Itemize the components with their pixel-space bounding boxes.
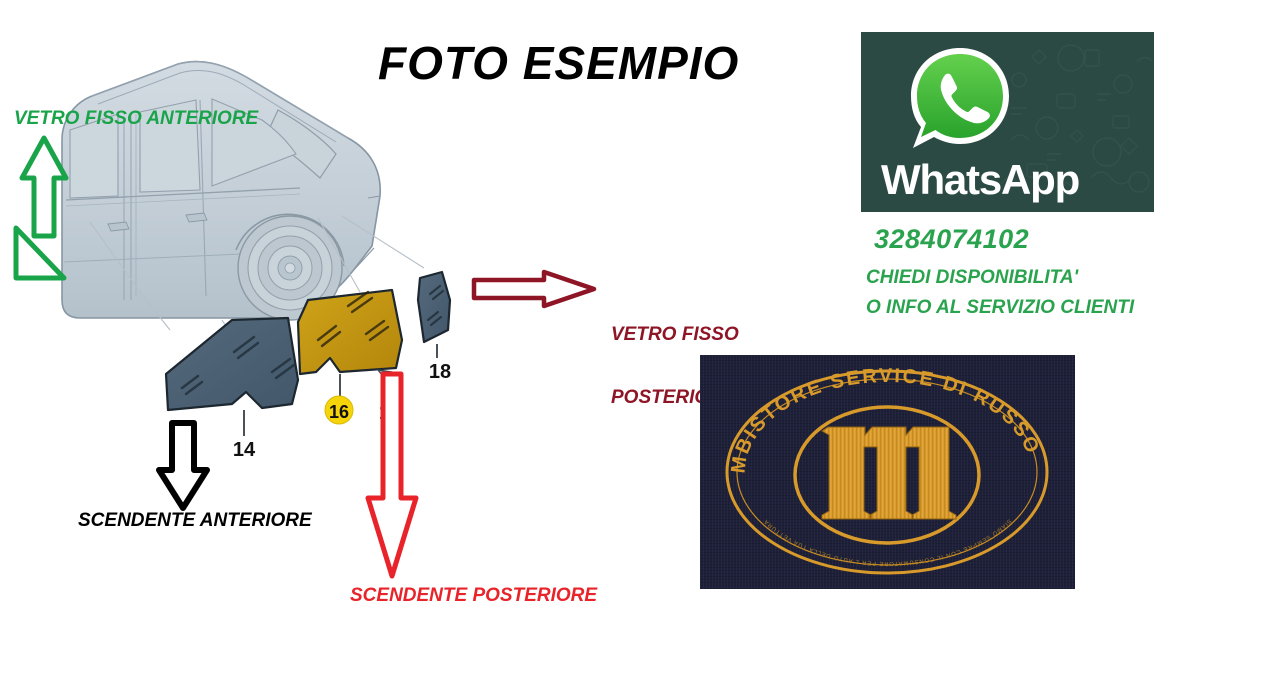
poster-canvas: 14 16 17 18 bbox=[0, 0, 1264, 678]
logo-monogram bbox=[822, 427, 956, 519]
label-scendente-anteriore: SCENDENTE ANTERIORE bbox=[78, 510, 312, 531]
label-vetro-fisso-posteriore-line1: VETRO FISSO bbox=[611, 324, 739, 345]
whatsapp-banner: WhatsApp bbox=[861, 32, 1154, 212]
whatsapp-logo-icon bbox=[905, 42, 1015, 160]
whatsapp-wordmark: WhatsApp bbox=[881, 156, 1079, 204]
part-number-16: 16 bbox=[329, 402, 349, 422]
whatsapp-phone-number: 3284074102 bbox=[874, 224, 1029, 255]
part-number-14: 14 bbox=[233, 439, 256, 461]
part-18-quarter-fixed-glass: 18 bbox=[418, 272, 451, 383]
part-number-18: 18 bbox=[429, 361, 451, 383]
label-vetro-fisso-anteriore: VETRO FISSO ANTERIORE bbox=[14, 108, 258, 129]
part-number-17: 17 bbox=[379, 402, 401, 424]
shop-logo-plate: MRICAMBISTORE SERVICE DI RUSSO MARCO SIA… bbox=[700, 355, 1075, 589]
whatsapp-info-line-1: CHIEDI DISPONIBILITA' bbox=[866, 267, 1078, 289]
mricambistore-logo-icon: MRICAMBISTORE SERVICE DI RUSSO MARCO SIA… bbox=[700, 355, 1075, 589]
part-14-front-drop-glass: 14 bbox=[166, 318, 298, 461]
car-body-illustration bbox=[62, 62, 380, 320]
part-17-window-regulator: 17 bbox=[378, 370, 401, 424]
page-title: FOTO ESEMPIO bbox=[378, 36, 739, 90]
logo-ring-text: MRICAMBISTORE SERVICE DI RUSSO MARCO bbox=[700, 355, 1046, 475]
whatsapp-info-line-2: O INFO AL SERVIZIO CLIENTI bbox=[866, 297, 1134, 319]
label-scendente-posteriore: SCENDENTE POSTERIORE bbox=[350, 585, 597, 606]
